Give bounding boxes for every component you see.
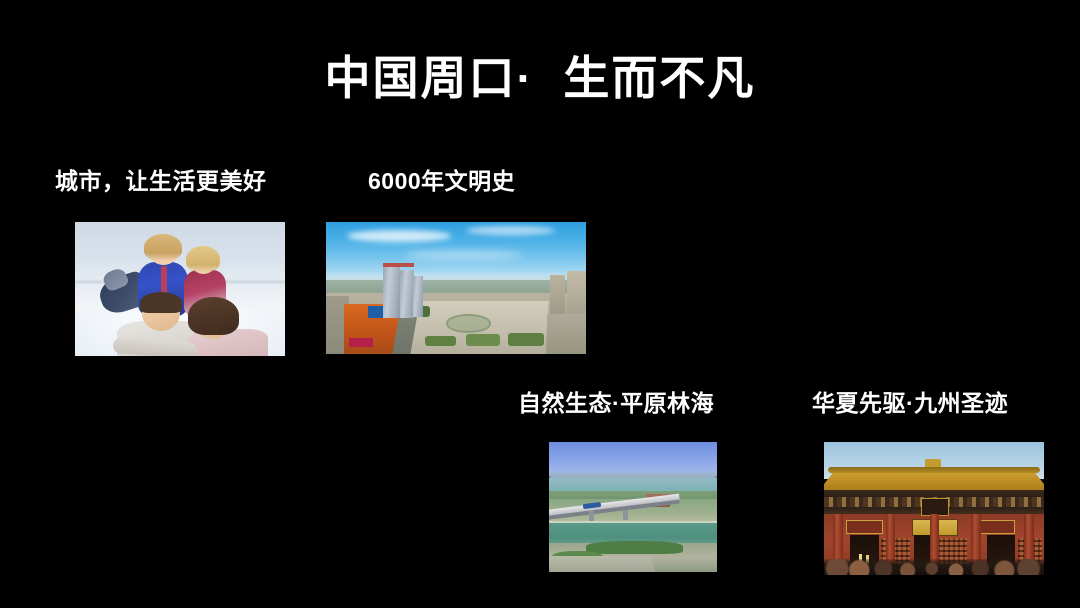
cloud-shape [347,230,451,242]
father-hair [140,292,182,313]
cloud-shape [404,251,524,259]
older-girl-hair [144,234,182,261]
aerial-cityscape-photo [326,222,586,354]
river-bridge-photo [549,442,717,572]
caption-city: 城市，让生活更美好 [55,170,267,193]
plaza-roundabout [446,314,492,333]
caption-history: 6000年文明史 [368,170,515,193]
presentation-slide: 中国周口· 生而不凡 城市，让生活更美好 6000年文明史 自然生态·平原林海 … [0,0,1080,608]
high-rise-tower [413,276,423,317]
younger-girl-hair [186,246,220,273]
side-plaque [846,520,883,534]
green-patch [425,336,456,347]
mother-hair [188,297,238,335]
shrub-row [586,541,683,554]
visitor-crowd-heads [824,559,1044,575]
right-building-block [547,314,586,354]
bridge-pier [623,510,628,520]
high-rise-tower [383,266,400,319]
green-patch [508,333,544,346]
family-on-snow-photo [75,222,285,356]
caption-ecology: 自然生态·平原林海 [518,392,714,415]
caption-heritage: 华夏先驱·九州圣迹 [812,392,1008,415]
right-building-block [567,271,587,316]
right-building-block [550,275,566,315]
foreground-path [549,556,655,572]
slide-title: 中国周口· 生而不凡 [0,52,1080,105]
rooftop-sign [383,263,414,267]
side-plaque [978,520,1015,534]
river-sky-layer [549,442,717,476]
mall-billboard [349,338,372,347]
temple-hall-photo [824,442,1044,575]
green-patch [466,334,500,346]
roof-ridge [828,467,1039,472]
